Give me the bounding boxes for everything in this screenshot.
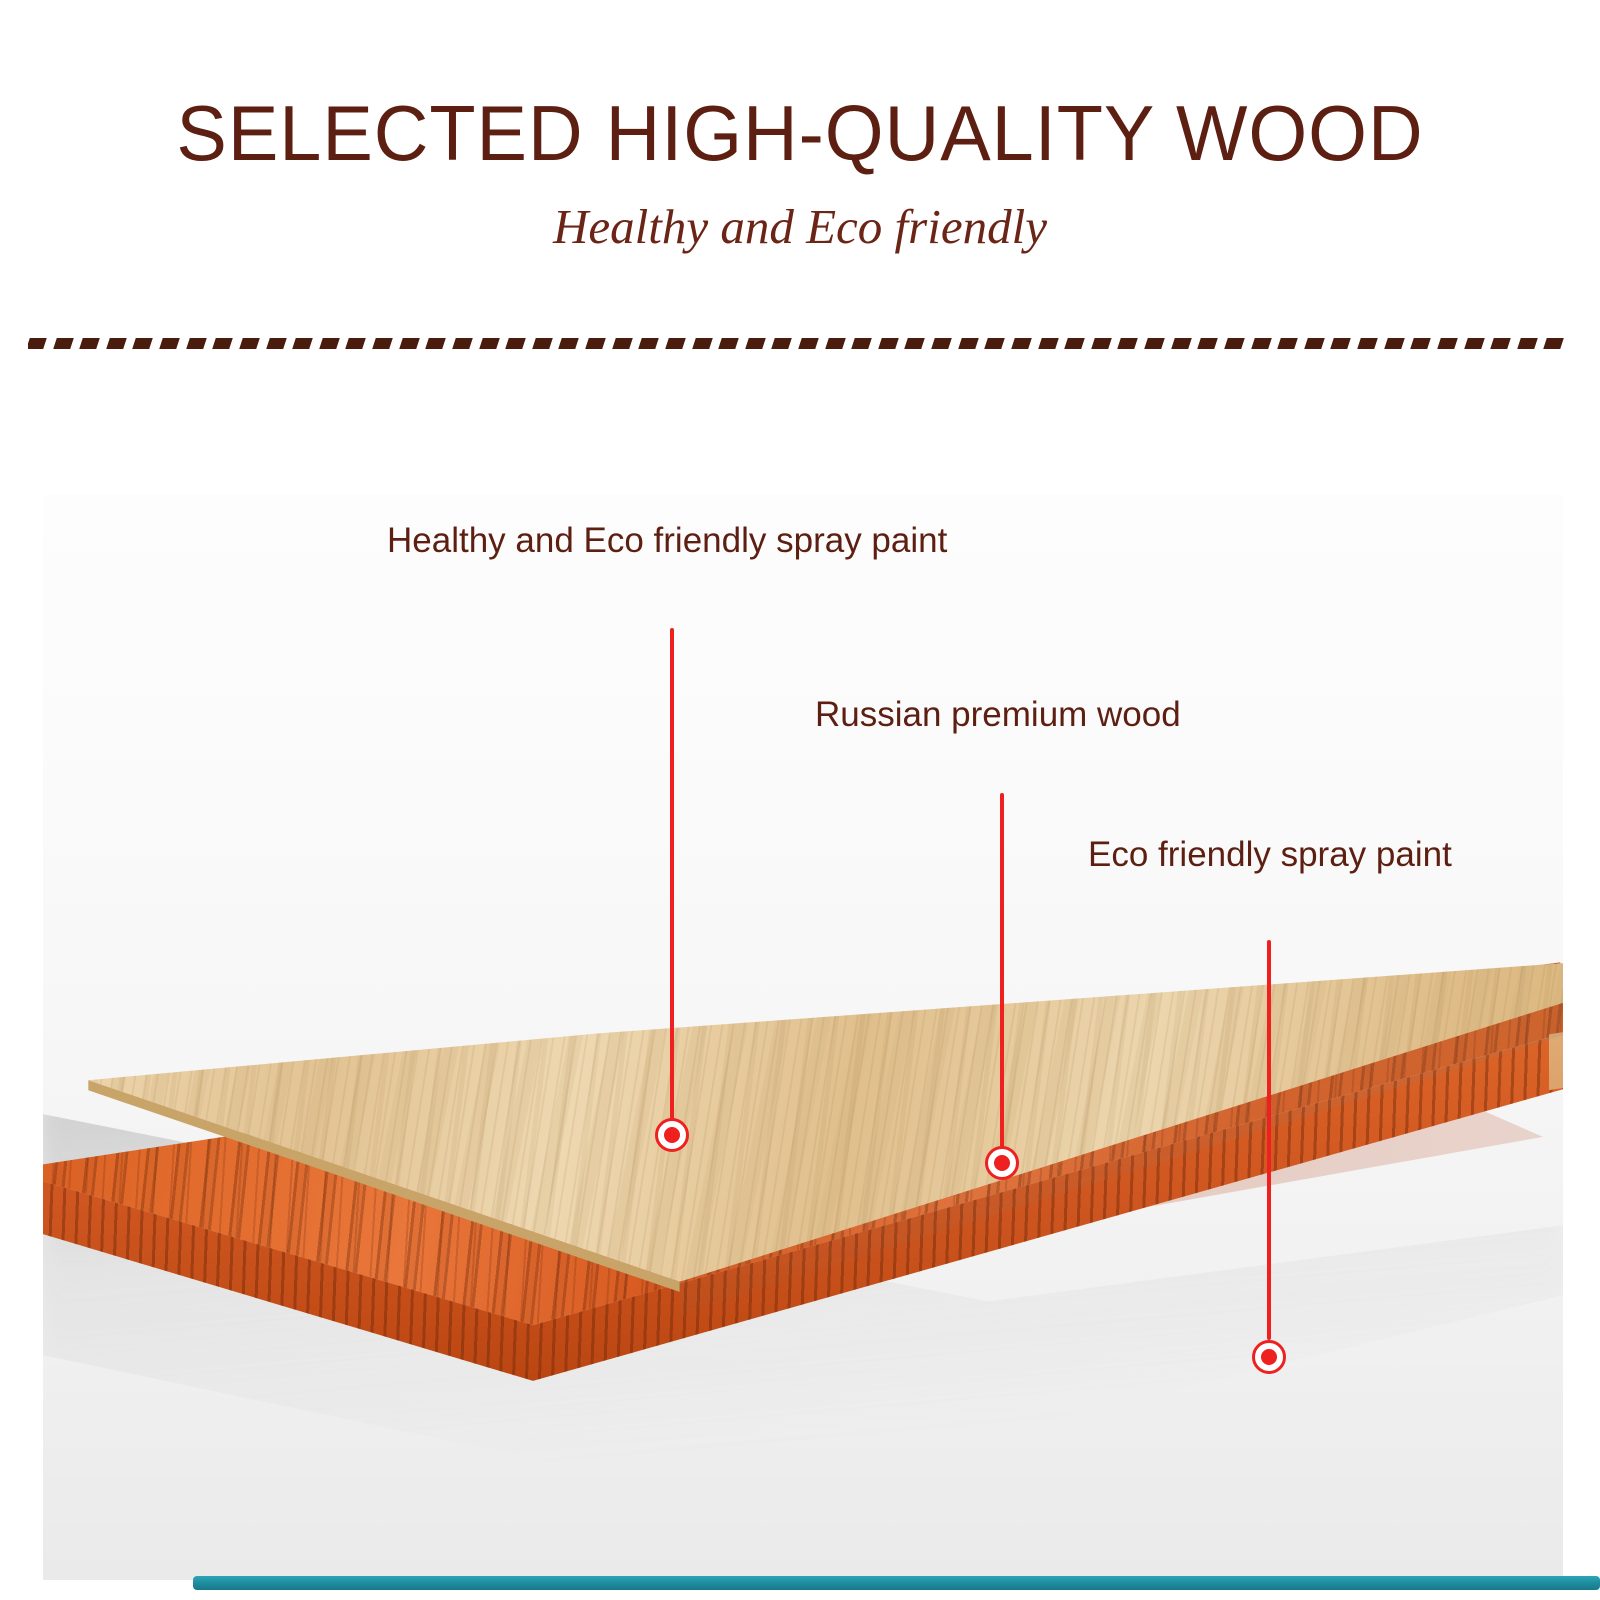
divider-dash bbox=[1357, 338, 1378, 349]
divider-dash bbox=[1544, 338, 1565, 349]
divider-dash bbox=[319, 338, 340, 349]
divider-dash bbox=[426, 338, 447, 349]
divider-dash bbox=[878, 338, 899, 349]
divider-dash bbox=[133, 338, 154, 349]
divider-dash bbox=[479, 338, 500, 349]
divider-dash bbox=[559, 338, 580, 349]
divider-dash bbox=[905, 338, 926, 349]
footer-accent-bar bbox=[193, 1576, 1600, 1590]
callout-marker-core[interactable] bbox=[985, 1146, 1019, 1180]
leader-line-core bbox=[1000, 793, 1004, 1165]
divider-dash bbox=[1437, 338, 1458, 349]
divider-dash bbox=[1198, 338, 1219, 349]
divider-dash bbox=[1464, 338, 1485, 349]
product-illustration-panel: Healthy and Eco friendly spray paint Rus… bbox=[43, 495, 1563, 1580]
divider-dash bbox=[159, 338, 180, 349]
divider-dash bbox=[585, 338, 606, 349]
callout-label-basecoat: Eco friendly spray paint bbox=[1088, 835, 1452, 875]
divider-dash bbox=[1251, 338, 1272, 349]
divider-dash bbox=[1517, 338, 1538, 349]
divider-dash bbox=[213, 338, 234, 349]
divider-dash bbox=[1490, 338, 1511, 349]
callout-marker-topcoat[interactable] bbox=[655, 1118, 689, 1152]
divider-dash bbox=[1038, 338, 1059, 349]
divider-dash bbox=[931, 338, 952, 349]
divider-dash bbox=[452, 338, 473, 349]
leader-line-topcoat bbox=[670, 628, 674, 1136]
divider-dash bbox=[958, 338, 979, 349]
divider-dash bbox=[239, 338, 260, 349]
divider-dash bbox=[638, 338, 659, 349]
page-subtitle: Healthy and Eco friendly bbox=[0, 198, 1600, 255]
divider-dash bbox=[505, 338, 526, 349]
divider-dash bbox=[1064, 338, 1085, 349]
divider-dash bbox=[79, 338, 100, 349]
divider-dash bbox=[692, 338, 713, 349]
divider-dash bbox=[718, 338, 739, 349]
leader-line-basecoat bbox=[1267, 940, 1271, 1340]
divider-dash bbox=[106, 338, 127, 349]
divider-dash bbox=[28, 338, 47, 349]
divider-dash bbox=[1091, 338, 1112, 349]
divider-dash bbox=[745, 338, 766, 349]
dashed-divider bbox=[28, 336, 1572, 352]
divider-dash bbox=[798, 338, 819, 349]
callout-label-topcoat: Healthy and Eco friendly spray paint bbox=[387, 521, 947, 561]
divider-dash bbox=[399, 338, 420, 349]
divider-dash bbox=[1144, 338, 1165, 349]
divider-dash bbox=[1224, 338, 1245, 349]
divider-dash bbox=[292, 338, 313, 349]
divider-dash bbox=[1011, 338, 1032, 349]
divider-dash bbox=[1384, 338, 1405, 349]
divider-dash bbox=[1277, 338, 1298, 349]
header-banner: SELECTED HIGH-QUALITY WOOD Healthy and E… bbox=[0, 0, 1600, 330]
callout-label-core: Russian premium wood bbox=[815, 695, 1181, 735]
divider-dash bbox=[772, 338, 793, 349]
divider-dash bbox=[985, 338, 1006, 349]
divider-dash bbox=[53, 338, 74, 349]
divider-dash bbox=[851, 338, 872, 349]
page-title: SELECTED HIGH-QUALITY WOOD bbox=[24, 88, 1576, 179]
divider-dash bbox=[186, 338, 207, 349]
divider-dash bbox=[266, 338, 287, 349]
divider-dash bbox=[665, 338, 686, 349]
divider-dash bbox=[1410, 338, 1431, 349]
divider-dash bbox=[1171, 338, 1192, 349]
divider-dash bbox=[346, 338, 367, 349]
divider-dash bbox=[372, 338, 393, 349]
divider-dash bbox=[1304, 338, 1325, 349]
divider-dash bbox=[612, 338, 633, 349]
divider-dash bbox=[1331, 338, 1352, 349]
callout-marker-basecoat[interactable] bbox=[1252, 1340, 1286, 1374]
divider-dash bbox=[825, 338, 846, 349]
divider-dash bbox=[1118, 338, 1139, 349]
divider-dash bbox=[532, 338, 553, 349]
